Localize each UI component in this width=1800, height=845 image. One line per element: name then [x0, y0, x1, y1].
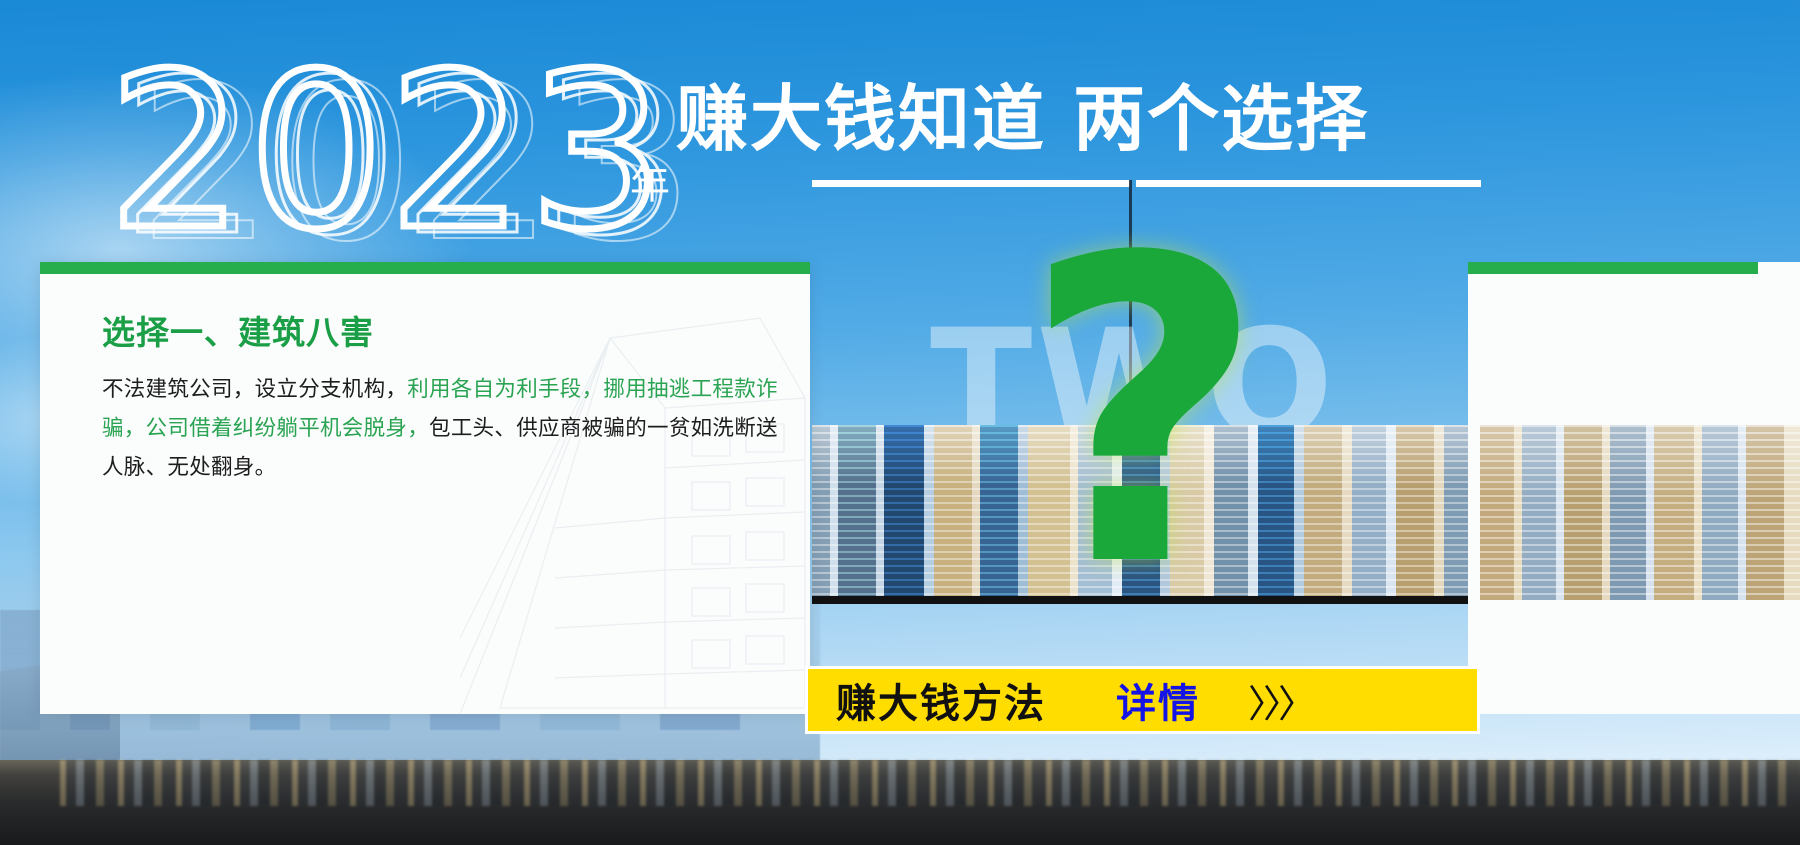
section-one-text-a: 不法建筑公司，设立分支机构， — [102, 377, 407, 402]
section-one: 选择一、建筑八害 不法建筑公司，设立分支机构，利用各自为利手段，挪用抽逃工程款诈… — [102, 306, 792, 487]
question-mark-icon: ? — [1022, 205, 1266, 625]
right-skyline-image — [1480, 425, 1800, 600]
year-suffix-label: 年 — [630, 152, 670, 210]
section-one-body: 不法建筑公司，设立分支机构，利用各自为利手段，挪用抽逃工程款诈骗，公司借着纠纷躺… — [102, 370, 782, 487]
page-title: 赚大钱知道 两个选择 — [676, 76, 1496, 162]
content-card: 选择一、建筑八害 不法建筑公司，设立分支机构，利用各自为利手段，挪用抽逃工程款诈… — [40, 262, 810, 714]
cta-banner[interactable]: 赚大钱方法 详情 〉〉〉 — [805, 666, 1480, 734]
cta-label: 赚大钱方法 — [836, 671, 1046, 729]
cta-detail-link[interactable]: 详情 — [1116, 671, 1200, 729]
card-top-accent-bar — [40, 262, 810, 274]
waterfront-foreground — [0, 760, 1800, 845]
section-one-title: 选择一、建筑八害 — [102, 306, 792, 354]
chevron-right-icon: 〉〉〉 — [1248, 673, 1312, 728]
right-green-accent-bar — [1468, 262, 1758, 274]
poster-canvas: 2023 2023 2023 年 赚大钱知道 两个选择 TWO CHOICES … — [0, 0, 1800, 845]
